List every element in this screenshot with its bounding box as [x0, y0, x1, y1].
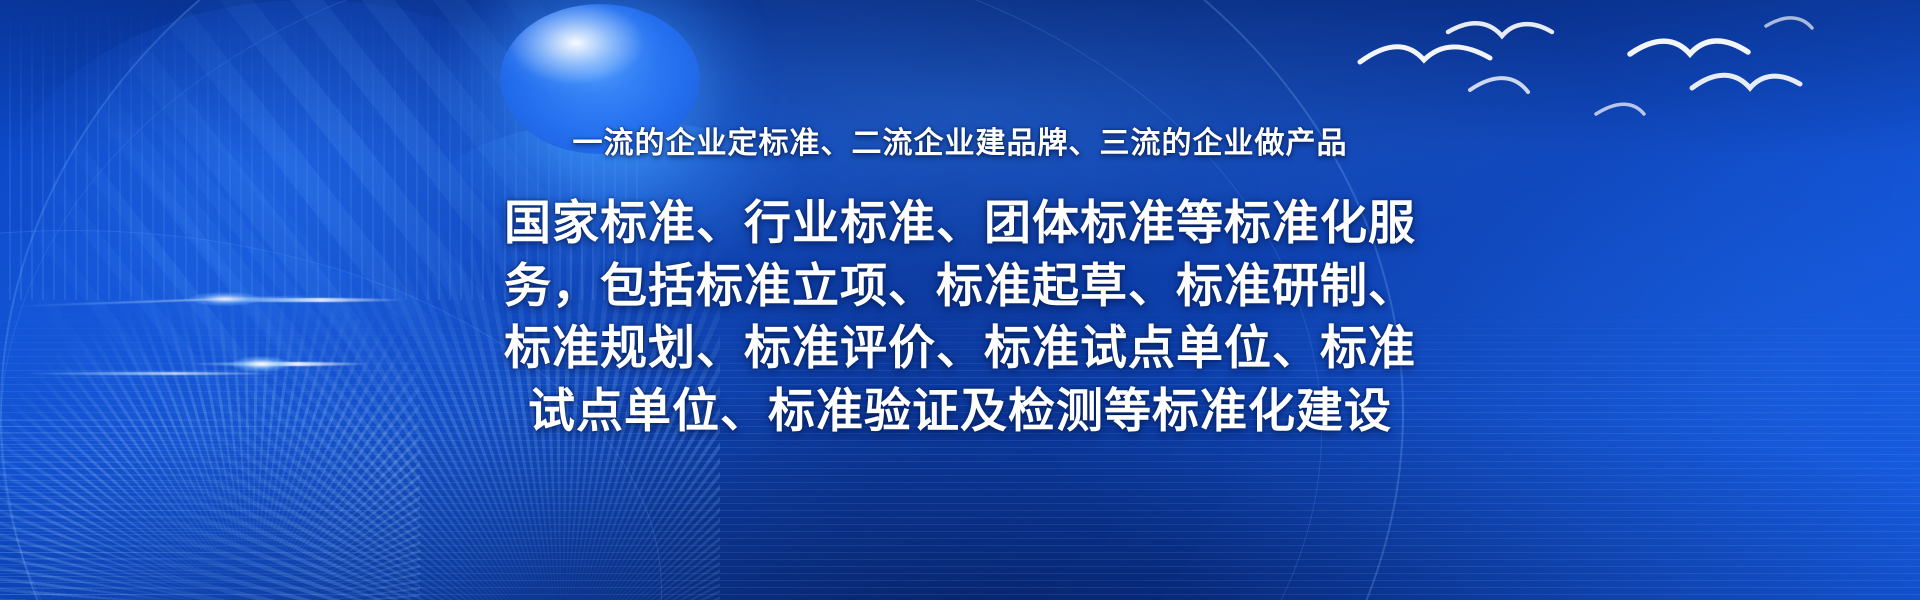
banner-content: 一流的企业定标准、二流企业建品牌、三流的企业做产品 国家标准、行业标准、团体标准…: [0, 0, 1920, 442]
paragraph-line: 国家标准、行业标准、团体标准等标准化服: [445, 192, 1475, 255]
paragraph-line: 务，包括标准立项、标准起草、标准研制、: [445, 255, 1475, 318]
banner-paragraph: 国家标准、行业标准、团体标准等标准化服 务，包括标准立项、标准起草、标准研制、 …: [445, 192, 1475, 442]
banner-headline: 一流的企业定标准、二流企业建品牌、三流的企业做产品: [0, 118, 1920, 162]
scanline-grid-left: [0, 420, 520, 600]
paragraph-line: 标准规划、标准评价、标准试点单位、标准: [445, 317, 1475, 380]
promo-banner: 一流的企业定标准、二流企业建品牌、三流的企业做产品 国家标准、行业标准、团体标准…: [0, 0, 1920, 600]
paragraph-line: 试点单位、标准验证及检测等标准化建设: [445, 380, 1475, 443]
